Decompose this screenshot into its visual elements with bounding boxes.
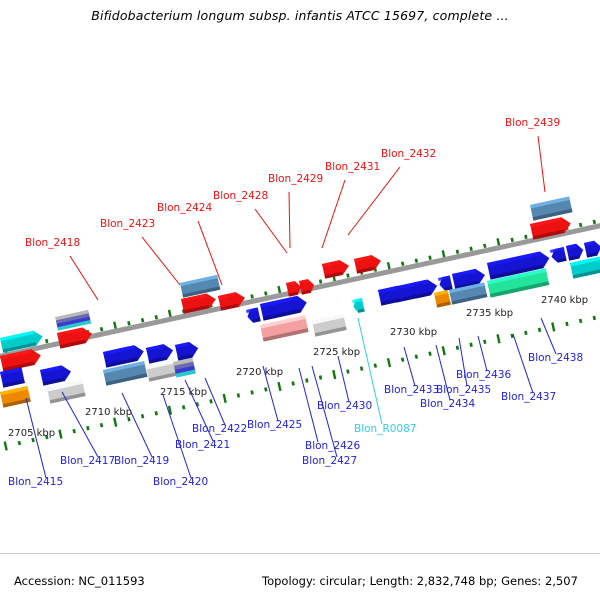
- green-tick-mark: [593, 220, 596, 224]
- topology-text: Topology: circular; Length: 2,832,748 bp…: [262, 574, 578, 588]
- green-tick-mark: [593, 316, 596, 320]
- green-tick-mark: [305, 378, 308, 382]
- green-tick-mark: [58, 429, 62, 438]
- axis-tick-label: 2730 kbp: [390, 328, 437, 338]
- green-tick-mark: [100, 327, 103, 331]
- gene-arrow[interactable]: [352, 298, 365, 314]
- gene-label-blon_2430[interactable]: Blon_2430: [317, 401, 372, 412]
- gene-label-blon_2428[interactable]: Blon_2428: [213, 191, 268, 202]
- green-tick-mark: [428, 255, 431, 259]
- label-leader-line: [255, 209, 287, 253]
- label-leader-line: [142, 237, 180, 285]
- gene-label-blon_2433[interactable]: Blon_2433: [384, 385, 439, 396]
- gene-label-blon_2435[interactable]: Blon_2435: [436, 385, 491, 396]
- gene-label-blon_2434[interactable]: Blon_2434: [420, 399, 475, 410]
- label-leader-line: [338, 356, 349, 402]
- green-tick-mark: [264, 387, 267, 391]
- green-tick-mark: [291, 381, 294, 385]
- gene-label-blon_2421[interactable]: Blon_2421: [175, 440, 230, 451]
- gene-label-blon_2425[interactable]: Blon_2425: [247, 420, 302, 431]
- gene-label-blon_2438[interactable]: Blon_2438: [528, 353, 583, 364]
- gene-arrow[interactable]: [438, 275, 453, 291]
- label-leader-line: [348, 167, 400, 235]
- label-leader-line: [205, 378, 225, 425]
- gene-label-blon_2418[interactable]: Blon_2418: [25, 238, 80, 249]
- green-tick-mark: [209, 399, 212, 403]
- gene-arrow[interactable]: [584, 240, 600, 258]
- gene-arrow[interactable]: [0, 386, 31, 408]
- gene-label-blon_2426[interactable]: Blon_2426: [305, 441, 360, 452]
- green-tick-mark: [456, 346, 459, 350]
- gene-arrow[interactable]: [180, 275, 220, 298]
- green-tick-mark: [565, 322, 568, 326]
- green-tick-mark: [551, 322, 555, 331]
- green-tick-mark: [223, 394, 227, 403]
- green-tick-mark: [456, 250, 459, 254]
- green-tick-mark: [524, 235, 527, 239]
- label-leader-line: [62, 392, 98, 457]
- gene-arrow[interactable]: [566, 243, 585, 261]
- green-tick-mark: [401, 261, 404, 265]
- gene-arrow[interactable]: [146, 342, 175, 363]
- label-leader-line: [289, 192, 290, 248]
- green-tick-mark: [264, 291, 267, 295]
- gene-label-blon_2424[interactable]: Blon_2424: [157, 203, 212, 214]
- green-tick-mark: [113, 418, 117, 427]
- label-leader-line: [322, 180, 345, 248]
- label-leader-line: [70, 256, 98, 300]
- label-leader-line: [198, 221, 222, 285]
- green-tick-mark: [442, 346, 446, 355]
- green-tick-mark: [45, 339, 48, 343]
- green-tick-mark: [360, 366, 363, 370]
- gene-arrow[interactable]: [312, 314, 347, 336]
- green-tick-mark: [510, 238, 513, 242]
- green-tick-mark: [579, 319, 582, 323]
- gene-label-blon_2419[interactable]: Blon_2419: [114, 456, 169, 467]
- label-leader-line: [404, 347, 415, 386]
- gene-label-blon_2437[interactable]: Blon_2437: [501, 392, 556, 403]
- green-tick-mark: [141, 414, 144, 418]
- genome-track-area[interactable]: Blon_2418Blon_2423Blon_2424Blon_2428Blon…: [0, 55, 600, 550]
- footer-divider: [0, 553, 600, 554]
- gene-label-blon_2432[interactable]: Blon_2432: [381, 149, 436, 160]
- green-tick-mark: [237, 393, 240, 397]
- green-tick-mark: [332, 370, 336, 379]
- gene-label-blon_2420[interactable]: Blon_2420: [153, 477, 208, 488]
- gene-arrow[interactable]: [530, 196, 572, 220]
- green-tick-mark: [18, 441, 21, 445]
- accession-text: Accession: NC_011593: [14, 574, 145, 588]
- green-tick-mark: [319, 279, 322, 283]
- green-tick-mark: [496, 334, 500, 343]
- green-tick-mark: [141, 318, 144, 322]
- green-tick-mark: [127, 321, 130, 325]
- gene-arrow[interactable]: [40, 364, 73, 386]
- green-tick-mark: [155, 411, 158, 415]
- axis-tick-label: 2710 kbp: [85, 408, 132, 418]
- green-tick-mark: [538, 328, 541, 332]
- green-tick-mark: [346, 369, 349, 373]
- gene-label-blon_2429[interactable]: Blon_2429: [268, 174, 323, 185]
- gene-arrow[interactable]: [354, 253, 383, 273]
- gene-arrow[interactable]: [434, 290, 451, 308]
- green-tick-mark: [250, 294, 253, 298]
- gene-label-blon_2431[interactable]: Blon_2431: [325, 162, 380, 173]
- green-tick-mark: [72, 429, 75, 433]
- gene-label-blon_2415[interactable]: Blon_2415: [8, 477, 63, 488]
- green-tick-mark: [277, 382, 281, 391]
- label-leader-line: [538, 136, 545, 192]
- gene-arrow[interactable]: [246, 307, 261, 323]
- green-tick-mark: [346, 273, 349, 277]
- green-tick-mark: [100, 423, 103, 427]
- label-leader-line: [122, 393, 152, 457]
- axis-tick-label: 2715 kbp: [160, 388, 207, 398]
- green-tick-mark: [469, 343, 472, 347]
- genome-graphics-layer: [0, 55, 600, 550]
- axis-tick-label: 2705 kbp: [8, 429, 55, 439]
- gene-label-blon_2423[interactable]: Blon_2423: [100, 219, 155, 230]
- gene-arrow[interactable]: [218, 290, 247, 310]
- green-tick-mark: [415, 354, 418, 358]
- green-tick-mark: [4, 441, 8, 450]
- green-tick-mark: [155, 315, 158, 319]
- gene-arrow[interactable]: [550, 247, 567, 264]
- green-tick-mark: [387, 358, 391, 367]
- green-tick-mark: [86, 426, 89, 430]
- green-tick-mark: [415, 258, 418, 262]
- axis-tick-label: 2720 kbp: [236, 368, 283, 378]
- gene-label-blon_2417[interactable]: Blon_2417: [60, 456, 115, 467]
- green-tick-mark: [428, 351, 431, 355]
- green-tick-mark: [250, 390, 253, 394]
- axis-tick-label: 2740 kbp: [541, 296, 588, 306]
- gene-arrow[interactable]: [570, 257, 600, 279]
- green-tick-mark: [401, 357, 404, 361]
- gene-label-blon_2439[interactable]: Blon_2439: [505, 118, 560, 129]
- gene-label-blon_2427[interactable]: Blon_2427: [302, 456, 357, 467]
- sequence-viewer: Bifidobacterium longum subsp. infantis A…: [0, 0, 600, 600]
- gene-arrow[interactable]: [175, 340, 200, 360]
- axis-tick-label: 2725 kbp: [313, 348, 360, 358]
- gene-label-blon_2422[interactable]: Blon_2422: [192, 424, 247, 435]
- green-tick-mark: [524, 331, 527, 335]
- gene-stripes: [55, 310, 91, 331]
- axis-tick-label: 2735 kbp: [466, 309, 513, 319]
- gene-label-blon_2436[interactable]: Blon_2436: [456, 370, 511, 381]
- green-tick-mark: [483, 244, 486, 248]
- green-tick-mark: [374, 363, 377, 367]
- gene-arrow[interactable]: [55, 310, 91, 331]
- green-tick-mark: [182, 405, 185, 409]
- green-tick-mark: [579, 223, 582, 227]
- gene-label-blon_r0087[interactable]: Blon_R0087: [354, 424, 416, 435]
- page-title: Bifidobacterium longum subsp. infantis A…: [0, 8, 600, 23]
- green-tick-mark: [483, 340, 486, 344]
- label-leader-line: [541, 318, 556, 354]
- green-tick-mark: [319, 375, 322, 379]
- green-tick-mark: [469, 247, 472, 251]
- gene-arrow[interactable]: [299, 278, 316, 295]
- gene-arrow[interactable]: [322, 258, 351, 278]
